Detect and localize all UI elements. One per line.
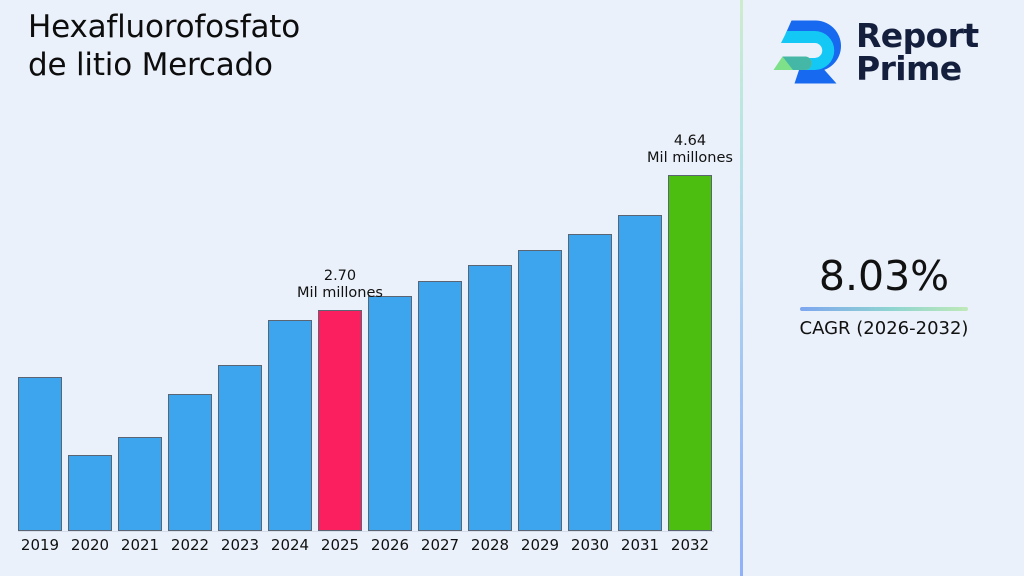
x-tick-label-2029: 2029: [518, 536, 562, 554]
cagr-divider-rule: [800, 307, 968, 311]
chart-panel: Hexafluorofosfato de litio Mercado 20192…: [0, 0, 740, 576]
x-tick-label-2026: 2026: [368, 536, 412, 554]
cagr-block: 8.03% CAGR (2026-2032): [744, 252, 1024, 340]
x-tick-label-2030: 2030: [568, 536, 612, 554]
bar-2025: [318, 310, 362, 531]
bar-2027: [418, 281, 462, 531]
bar-2021: [118, 437, 162, 531]
bar-2030: [568, 234, 612, 531]
x-tick-label-2027: 2027: [418, 536, 462, 554]
cagr-value: 8.03%: [744, 252, 1024, 300]
x-tick-label-2028: 2028: [468, 536, 512, 554]
bar-2026: [368, 296, 412, 531]
bar-2032: [668, 175, 712, 531]
bar-2023: [218, 365, 262, 531]
x-tick-label-2031: 2031: [618, 536, 662, 554]
x-tick-label-2021: 2021: [118, 536, 162, 554]
bar-2024: [268, 320, 312, 531]
bar-2019: [18, 377, 62, 531]
brand-name-line1: Report: [856, 19, 979, 52]
report-prime-logo-icon: [772, 14, 844, 90]
bar-2028: [468, 265, 512, 531]
brand-logo: Report Prime: [772, 14, 979, 90]
x-tick-label-2020: 2020: [68, 536, 112, 554]
bar-2029: [518, 250, 562, 531]
bar-value-label-2032: 4.64 Mil millones: [630, 133, 750, 167]
x-tick-label-2023: 2023: [218, 536, 262, 554]
bar-2031: [618, 215, 662, 531]
brand-name: Report Prime: [856, 19, 979, 85]
x-tick-label-2022: 2022: [168, 536, 212, 554]
x-axis-line: [18, 531, 714, 532]
x-tick-label-2019: 2019: [18, 536, 62, 554]
x-tick-label-2024: 2024: [268, 536, 312, 554]
bar-2020: [68, 455, 112, 531]
bar-2022: [168, 394, 212, 531]
brand-name-line2: Prime: [856, 52, 979, 85]
x-tick-label-2025: 2025: [318, 536, 362, 554]
cagr-caption: CAGR (2026-2032): [744, 317, 1024, 340]
panel-divider: [740, 0, 743, 576]
report-slide: Hexafluorofosfato de litio Mercado 20192…: [0, 0, 1024, 576]
brand-panel: Report Prime 8.03% CAGR (2026-2032): [744, 0, 1024, 576]
bar-value-label-2025: 2.70 Mil millones: [280, 268, 400, 302]
bar-chart: 2019202020212022202320242025202620272028…: [0, 0, 740, 576]
x-tick-label-2032: 2032: [668, 536, 712, 554]
